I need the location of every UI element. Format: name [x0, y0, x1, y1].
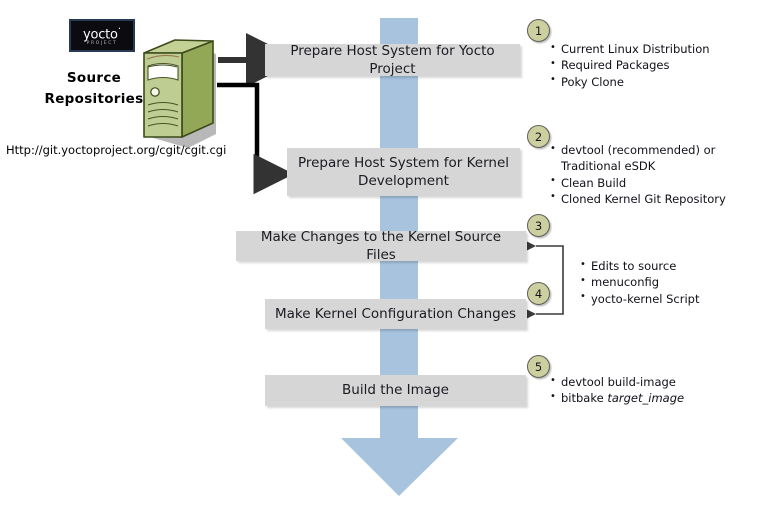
step-box-3[interactable]: Make Changes to the Kernel Source Files	[236, 231, 526, 261]
list-item-continuation: Traditional eSDK	[550, 158, 726, 174]
diagram-canvas: yocto· PROJECT Source Repositories Http:…	[0, 0, 769, 517]
list-item: Poky Clone	[550, 74, 710, 90]
list-item: devtool build-image	[550, 374, 684, 390]
step-badge-5: 5	[527, 355, 550, 378]
step-badge-3-number: 3	[535, 219, 542, 233]
steps-3-4-bullets: Edits to source menuconfig yocto-kernel …	[580, 258, 700, 307]
step-box-4[interactable]: Make Kernel Configuration Changes	[265, 299, 526, 329]
step-1-bullets: Current Linux Distribution Required Pack…	[550, 41, 710, 90]
step-badge-2: 2	[527, 125, 550, 148]
list-item: Current Linux Distribution	[550, 41, 710, 57]
step-badge-1-number: 1	[535, 24, 542, 38]
step-badge-3: 3	[527, 214, 550, 237]
step-2-bullets: devtool (recommended) or Traditional eSD…	[550, 142, 726, 207]
step-box-1[interactable]: Prepare Host System for Yocto Project	[265, 44, 520, 76]
list-item-emphasis: target_image	[607, 391, 684, 405]
list-item-text: devtool (recommended) or	[561, 143, 715, 157]
list-item: bitbake target_image	[550, 390, 684, 406]
step-badge-2-number: 2	[535, 130, 542, 144]
step-box-1-label: Prepare Host System for Yocto Project	[273, 42, 512, 78]
list-item: Clean Build	[550, 175, 726, 191]
step-box-5-label: Build the Image	[342, 381, 449, 399]
list-item: devtool (recommended) or	[550, 142, 726, 158]
step-badge-5-number: 5	[535, 360, 542, 374]
step-box-5[interactable]: Build the Image	[265, 375, 526, 406]
list-item: yocto-kernel Script	[580, 291, 700, 307]
step-badge-4-number: 4	[535, 287, 542, 301]
step-box-4-label: Make Kernel Configuration Changes	[275, 305, 516, 323]
step-5-bullets: devtool build-image bitbake target_image	[550, 374, 684, 407]
list-item: Required Packages	[550, 57, 710, 73]
list-item: menuconfig	[580, 274, 700, 290]
list-item: Cloned Kernel Git Repository	[550, 191, 726, 207]
list-item-text: bitbake	[561, 391, 607, 405]
list-item: Edits to source	[580, 258, 700, 274]
step-box-3-label: Make Changes to the Kernel Source Files	[244, 228, 518, 264]
step-badge-4: 4	[527, 282, 550, 305]
step-box-2[interactable]: Prepare Host System for Kernel Developme…	[287, 148, 520, 196]
step-box-2-label: Prepare Host System for Kernel Developme…	[295, 154, 512, 190]
step-badge-1: 1	[527, 19, 550, 42]
